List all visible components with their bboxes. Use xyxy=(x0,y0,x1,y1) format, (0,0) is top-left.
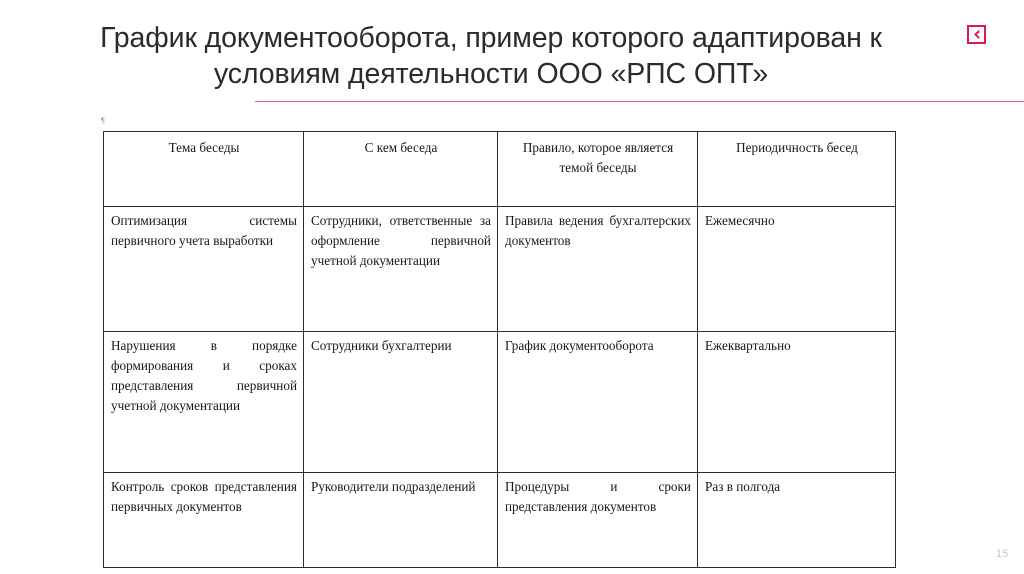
document-flow-table: Тема беседы С кем беседа Правило, которо… xyxy=(103,131,896,568)
cell-with-whom: Руководители подразделений xyxy=(304,473,498,568)
column-header-rule: Правило, которое является темой беседы xyxy=(498,132,698,207)
table-body: Оптимизация системы первичного учета выр… xyxy=(104,207,896,568)
cell-rule: Процедуры и сроки представления документ… xyxy=(498,473,698,568)
cell-frequency: Ежеквартально xyxy=(698,332,896,473)
paragraph-mark: ¶ xyxy=(101,117,105,125)
table-row: Нарушения в порядке формирования и срока… xyxy=(104,332,896,473)
cell-topic: Нарушения в порядке формирования и срока… xyxy=(104,332,304,473)
cell-topic: Оптимизация системы первичного учета выр… xyxy=(104,207,304,332)
cell-rule: Правила ведения бухгалтерских документов xyxy=(498,207,698,332)
title-underline-rule xyxy=(255,101,1024,102)
title-block: График документооборота, пример которого… xyxy=(48,20,934,92)
prev-slide-button-inner xyxy=(969,27,984,42)
cell-rule: График документооборота xyxy=(498,332,698,473)
page-title: График документооборота, пример которого… xyxy=(48,20,934,92)
cell-topic: Контроль сроков представления первичных … xyxy=(104,473,304,568)
cell-frequency: Ежемесячно xyxy=(698,207,896,332)
chevron-left-icon xyxy=(972,29,981,40)
slide-canvas: График документооборота, пример которого… xyxy=(0,0,1024,574)
column-header-topic: Тема беседы xyxy=(104,132,304,207)
page-number: 15 xyxy=(996,548,1008,560)
cell-with-whom: Сотрудники бухгалтерии xyxy=(304,332,498,473)
column-header-frequency: Периодичность бесед xyxy=(698,132,896,207)
table-header: Тема беседы С кем беседа Правило, которо… xyxy=(104,132,896,207)
table-row: Контроль сроков представления первичных … xyxy=(104,473,896,568)
prev-slide-button[interactable] xyxy=(967,25,986,44)
column-header-with-whom: С кем беседа xyxy=(304,132,498,207)
cell-with-whom: Сотрудники, ответственные за оформление … xyxy=(304,207,498,332)
table-row: Оптимизация системы первичного учета выр… xyxy=(104,207,896,332)
table-header-row: Тема беседы С кем беседа Правило, которо… xyxy=(104,132,896,207)
cell-frequency: Раз в полгода xyxy=(698,473,896,568)
